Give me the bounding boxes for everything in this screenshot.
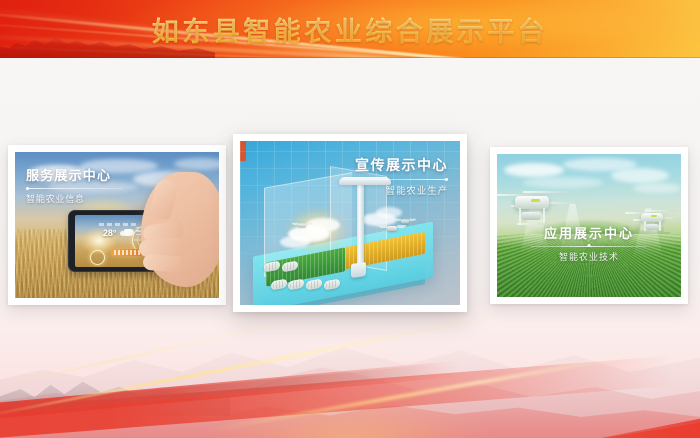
card-service-inner: 28° 服务展示中心 — [15, 152, 219, 298]
card-promo-subtitle: 智能农业生产 — [344, 183, 448, 197]
cloud — [633, 183, 681, 193]
cloud — [611, 168, 669, 183]
page-stage: 如东县智能农业综合展示平台 — [0, 0, 700, 438]
cloud — [523, 177, 603, 188]
caption-divider — [531, 246, 647, 247]
card-service-display-center[interactable]: 28° 服务展示中心 — [8, 145, 226, 305]
card-promo-inner: 宣传展示中心 智能农业生产 — [240, 141, 460, 305]
card-application-display-center[interactable]: 应用展示中心 智能农业技术 — [490, 147, 688, 304]
card-promo-caption: 宣传展示中心 智能农业生产 — [344, 155, 448, 197]
drone — [396, 217, 414, 225]
card-app-title: 应用展示中心 — [497, 223, 681, 242]
phone-hud-ring-small — [90, 250, 105, 265]
caption-divider — [26, 188, 122, 189]
cloud — [174, 158, 219, 170]
phone-temperature-readout: 28° — [103, 228, 117, 238]
cloud — [504, 163, 564, 177]
irrigation-base-unit — [351, 262, 366, 278]
card-promotion-display-center[interactable]: 宣传展示中心 智能农业生产 — [233, 134, 467, 312]
card-service-subtitle: 智能农业信息 — [26, 192, 122, 205]
card-service-caption: 服务展示中心 智能农业信息 — [26, 165, 122, 205]
phone-hud-progress-bar — [112, 249, 142, 256]
page-title: 如东县智能农业综合展示平台 — [0, 0, 700, 58]
human-hand — [141, 172, 219, 287]
card-app-caption: 应用展示中心 智能农业技术 — [497, 223, 681, 263]
header-banner: 如东县智能农业综合展示平台 — [0, 0, 700, 58]
finger — [142, 254, 181, 273]
card-promo-title: 宣传展示中心 — [344, 155, 448, 175]
card-service-title: 服务展示中心 — [26, 165, 122, 184]
caption-divider — [344, 179, 448, 180]
phone-text-lines — [99, 223, 139, 226]
drone — [294, 221, 310, 228]
card-app-inner: 应用展示中心 智能农业技术 — [497, 154, 681, 297]
card-app-subtitle: 智能农业技术 — [497, 250, 681, 263]
